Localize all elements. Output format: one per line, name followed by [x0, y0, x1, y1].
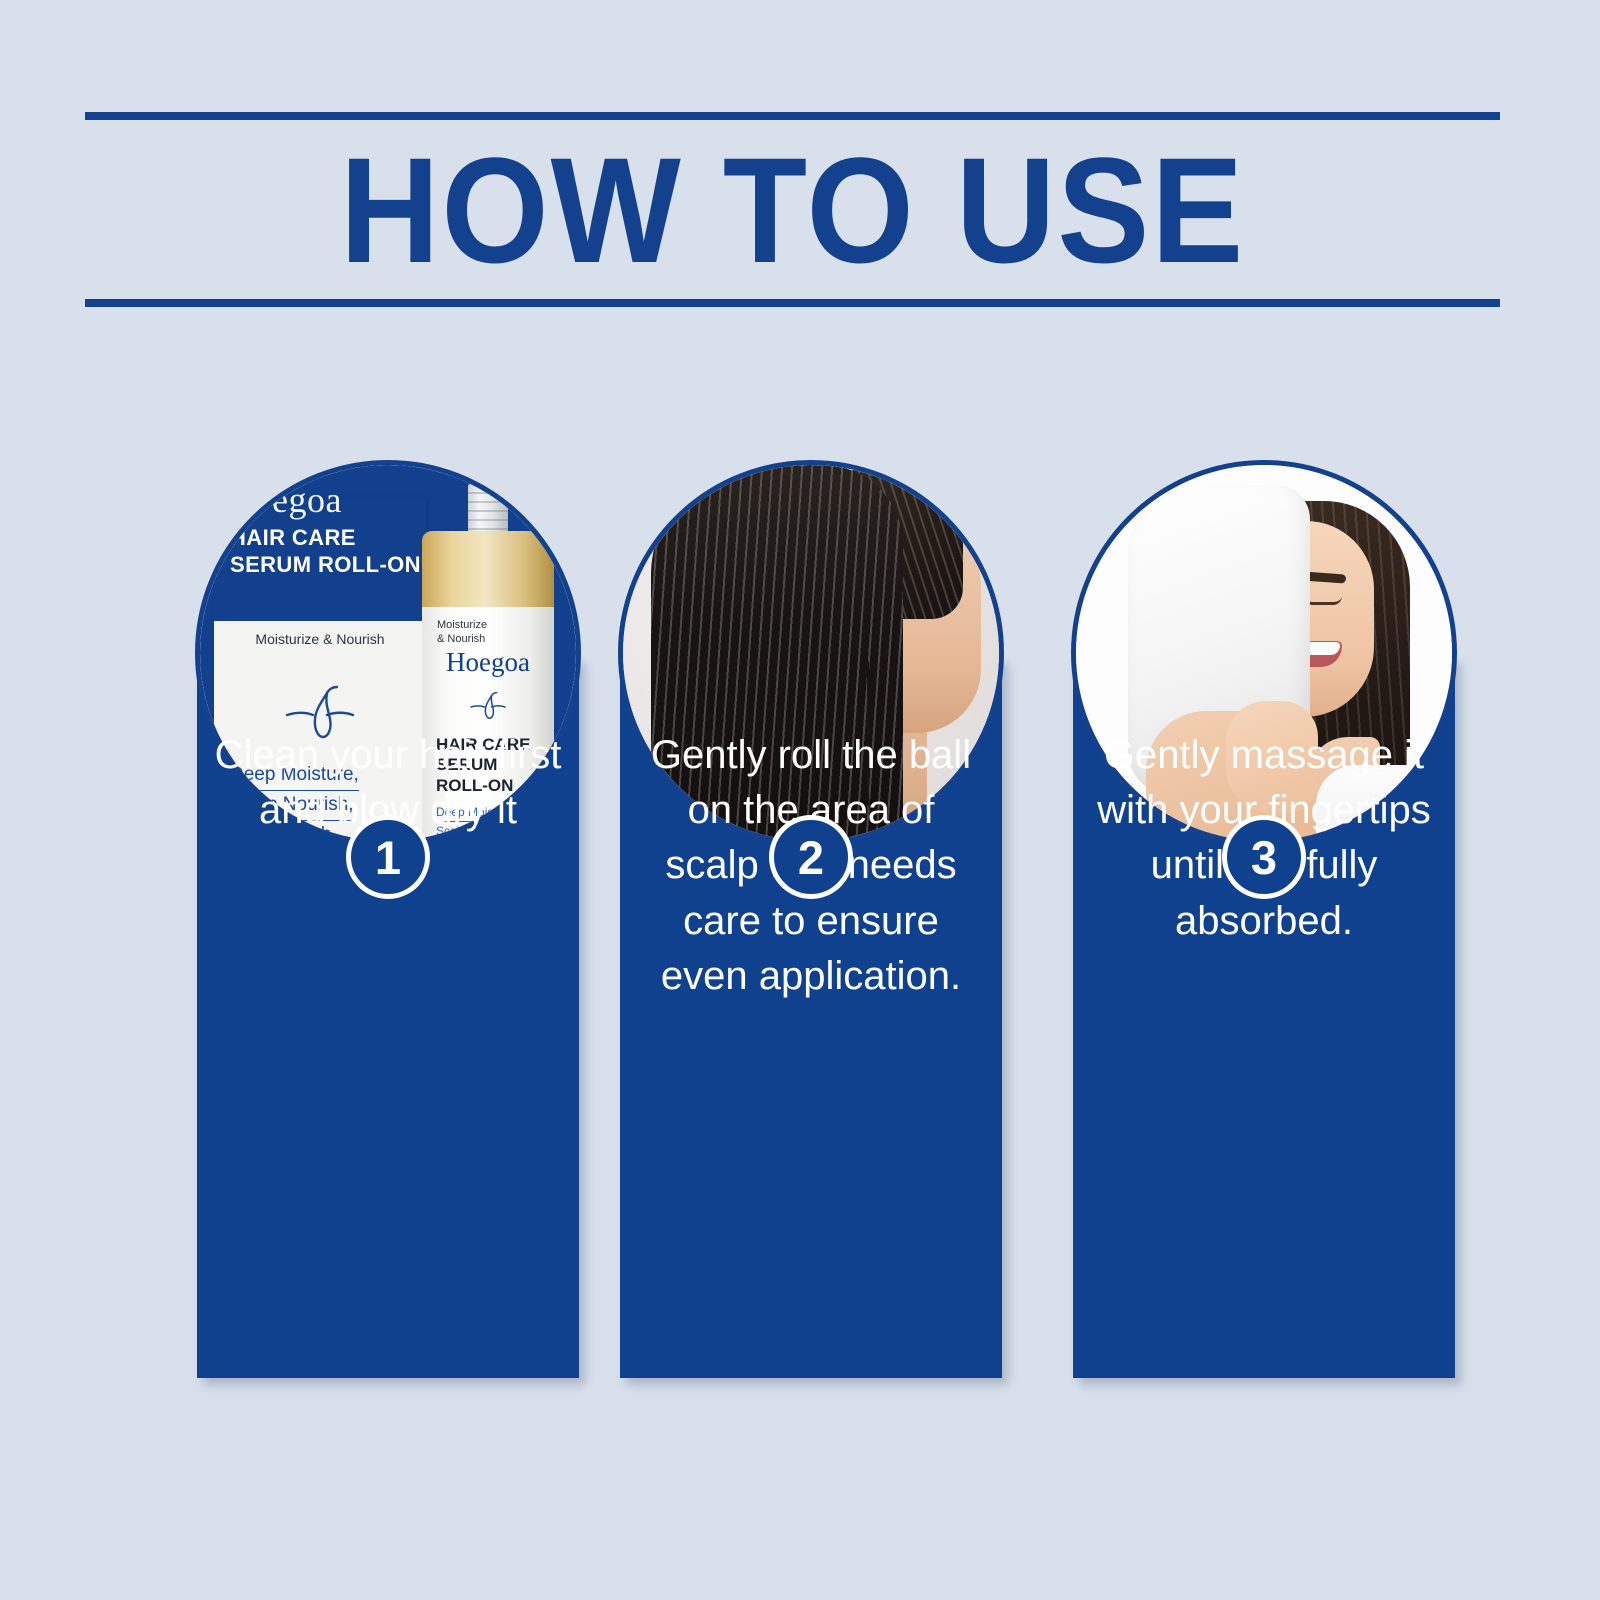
step-number-badge-3: 3: [1222, 815, 1306, 899]
bottle-neck: [468, 483, 508, 537]
step-card-3: 3 Gently massage it with your fingertips…: [1073, 460, 1455, 1420]
step-card-2: 2 Gently roll the ball on the area of sc…: [620, 460, 1002, 1420]
hair-follicle-icon: [469, 691, 507, 725]
step-number-badge-2: 2: [769, 815, 853, 899]
carton-title: HAIR CARE SERUM ROLL-ON: [230, 525, 426, 579]
bottle-brand-name: Hoegoa: [422, 647, 554, 678]
page-title: HOW TO USE: [142, 112, 1444, 307]
carton-brand-partial: egoa: [272, 479, 342, 521]
bottle-subtitle-line-2: & Nourish: [437, 633, 487, 647]
step-card-1: egoa HAIR CARE SERUM ROLL-ON Moisturize …: [197, 460, 579, 1420]
carton-header-band: egoa HAIR CARE SERUM ROLL-ON: [214, 499, 426, 621]
bottle-subtitle-line-1: Moisturize: [437, 619, 487, 633]
carton-subtitle: Moisturize & Nourish: [214, 631, 426, 647]
bottle-subtitle: Moisturize & Nourish: [437, 619, 487, 647]
page-header: HOW TO USE: [85, 112, 1500, 307]
header-rule-bottom: [85, 299, 1500, 307]
step-number-badge-1: 1: [346, 815, 430, 899]
steps-container: egoa HAIR CARE SERUM ROLL-ON Moisturize …: [0, 460, 1600, 1420]
